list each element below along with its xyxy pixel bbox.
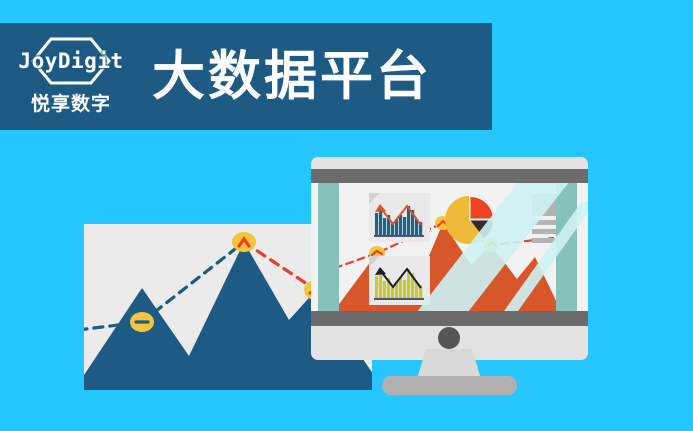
page-title: 大数据平台 <box>152 50 432 103</box>
arrow-head-icon <box>375 204 386 212</box>
screen-accent-strip-left <box>318 183 339 311</box>
page-fold-icon <box>369 256 380 267</box>
doc-header-block <box>532 194 556 216</box>
brand-logo: JoyDigit 悦享数字 <box>12 37 130 116</box>
olive-bar-chart-card[interactable] <box>369 256 430 305</box>
page-fold-icon <box>369 193 380 204</box>
desktop-monitor <box>311 157 588 360</box>
monitor-power-dot <box>438 327 460 349</box>
monitor-bottom-bar <box>311 311 588 326</box>
logo-subtitle: 悦享数字 <box>31 89 111 116</box>
monitor-base <box>382 376 517 395</box>
banner-root: JoyDigit 悦享数字 大数据平台 <box>0 0 693 431</box>
document-placeholder <box>532 194 556 243</box>
monitor-top-bar <box>311 169 588 183</box>
doc-text-line <box>532 220 556 225</box>
logo-hexagon-wrap: JoyDigit <box>19 37 123 85</box>
monitor-stand-neck <box>417 349 481 379</box>
pie-slice-red <box>471 197 494 219</box>
screen-accent-strip-right <box>556 183 577 311</box>
data-marker <box>232 232 256 252</box>
doc-text-line <box>532 229 556 234</box>
dashboard-canvas <box>339 183 556 311</box>
monitor-screen[interactable] <box>311 183 588 311</box>
blue-bar-chart-card[interactable] <box>369 193 430 242</box>
header-band: JoyDigit 悦享数字 大数据平台 <box>0 23 492 130</box>
logo-wordmark: JoyDigit <box>18 49 123 73</box>
arrow-head-icon <box>375 267 386 275</box>
pie-chart[interactable] <box>443 194 495 246</box>
doc-text-line <box>532 238 556 243</box>
